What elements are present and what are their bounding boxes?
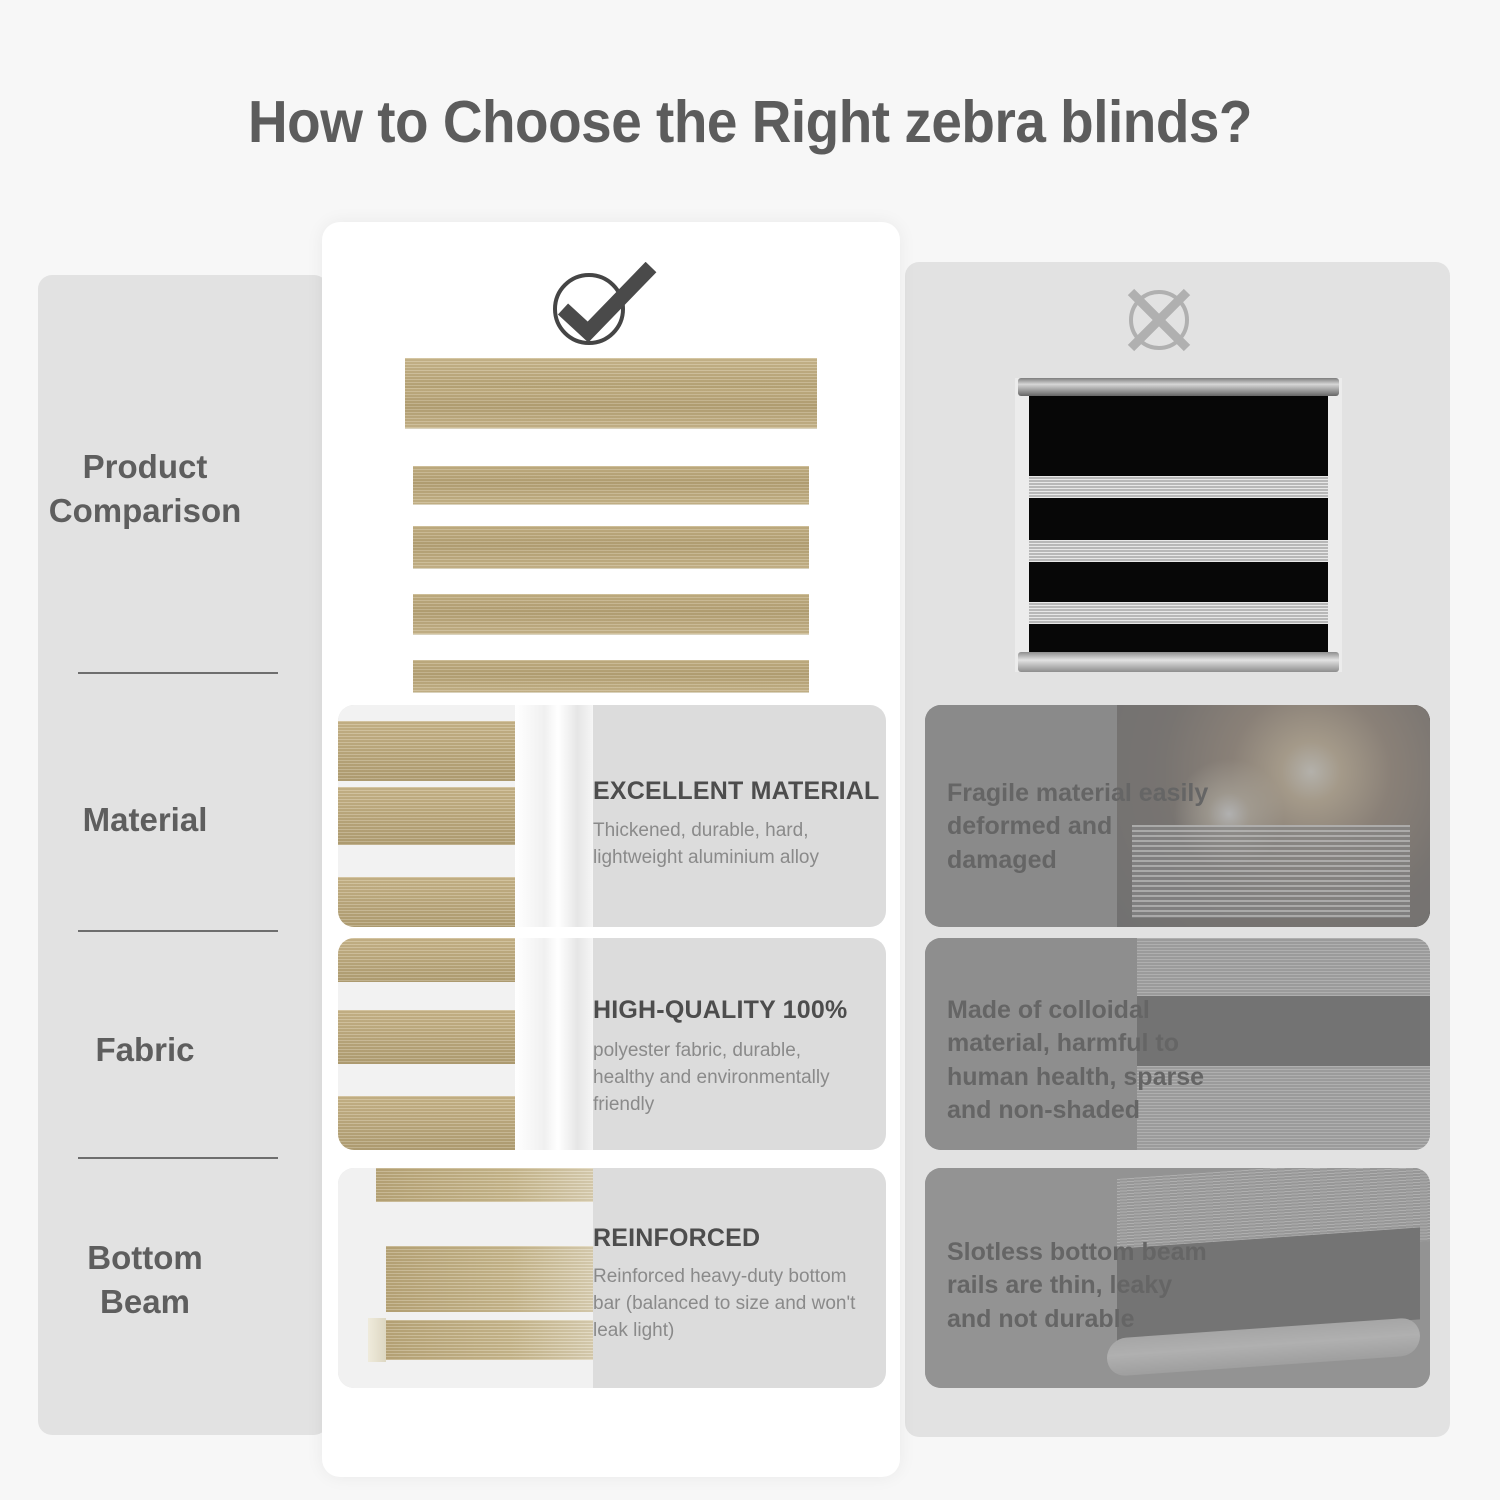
blind-slat: [413, 526, 809, 569]
sidebar-item-bottom-beam: Bottom Beam: [0, 1236, 290, 1323]
blind-slat: [405, 388, 817, 429]
blind-slat: [413, 594, 809, 635]
blind-slat: [338, 1010, 520, 1064]
comparison-board: Product Comparison Material Fabric Botto…: [0, 0, 1500, 1500]
blind-sheer-stripe: [1029, 476, 1328, 498]
beam-end-cap: [368, 1318, 386, 1362]
check-circle-icon: [543, 262, 659, 353]
blind-slat: [386, 1246, 593, 1312]
drawback-card-fabric: Made of colloidal material, harmful to h…: [925, 938, 1430, 1150]
feature-heading: HIGH-QUALITY 100%: [593, 996, 886, 1025]
blind-headrail: [1018, 378, 1339, 396]
feature-card-material: EXCELLENT MATERIAL Thickened, durable, h…: [338, 705, 886, 927]
blind-sheer-stripe: [1029, 602, 1328, 624]
blind-slat: [338, 1096, 520, 1150]
drawback-text: Made of colloidal material, harmful to h…: [947, 994, 1222, 1127]
blind-bottom-beam: [382, 1320, 593, 1360]
feature-card-fabric: HIGH-QUALITY 100% polyester fabric, dura…: [338, 938, 886, 1150]
feature-text-fabric: HIGH-QUALITY 100% polyester fabric, dura…: [593, 938, 886, 1150]
blind-headrail: [405, 358, 817, 388]
blind-slat: [338, 938, 520, 982]
drawback-text: Slotless bottom beam rails are thin, lea…: [947, 1236, 1222, 1336]
blind-slat: [413, 466, 809, 505]
window-frame: [515, 938, 593, 1150]
sidebar-label-line: Beam: [100, 1283, 190, 1320]
sidebar-label-line: Bottom: [87, 1239, 202, 1276]
sidebar-item-product-comparison: Product Comparison: [0, 445, 290, 532]
feature-heading: REINFORCED: [593, 1224, 886, 1253]
feature-body: Reinforced heavy-duty bottom bar (balanc…: [593, 1264, 865, 1345]
drawback-card-bottom-beam: Slotless bottom beam rails are thin, lea…: [925, 1168, 1430, 1388]
feature-photo-fabric: [338, 938, 593, 1150]
feature-photo-material: [338, 705, 593, 927]
blind-bottom-bar: [413, 660, 809, 693]
blind-bottom-rail: [1018, 652, 1339, 672]
sidebar-divider: [78, 1157, 278, 1159]
blind-slat: [376, 1168, 593, 1202]
feature-text-material: EXCELLENT MATERIAL Thickened, durable, h…: [593, 705, 886, 927]
blind-sheer-stripe: [1029, 540, 1328, 562]
sidebar-divider: [78, 930, 278, 932]
hero-image-black-blind: [1015, 378, 1342, 672]
sidebar-item-material: Material: [0, 798, 290, 842]
feature-heading: EXCELLENT MATERIAL: [593, 777, 886, 806]
drawback-card-material: Fragile material easily deformed and dam…: [925, 705, 1430, 927]
hero-image-beige-blind: [405, 358, 817, 696]
feature-card-bottom-beam: REINFORCED Reinforced heavy-duty bottom …: [338, 1168, 886, 1388]
feature-body: Thickened, durable, hard, lightweight al…: [593, 818, 865, 872]
blind-slat: [338, 721, 520, 781]
cross-circle-icon: [1122, 283, 1196, 362]
window-frame: [515, 705, 593, 927]
sidebar-label-line: Product: [83, 448, 208, 485]
blind-slat: [338, 877, 520, 927]
sidebar-divider: [78, 672, 278, 674]
drawback-text: Fragile material easily deformed and dam…: [947, 777, 1222, 877]
blind-slat: [338, 787, 520, 845]
feature-photo-bottom-beam: [338, 1168, 593, 1388]
sidebar-label-line: Comparison: [49, 492, 242, 529]
feature-text-bottom-beam: REINFORCED Reinforced heavy-duty bottom …: [593, 1168, 886, 1388]
feature-body: polyester fabric, durable, healthy and e…: [593, 1038, 865, 1119]
sidebar-item-fabric: Fabric: [0, 1028, 290, 1072]
blind-body: [1029, 394, 1328, 654]
